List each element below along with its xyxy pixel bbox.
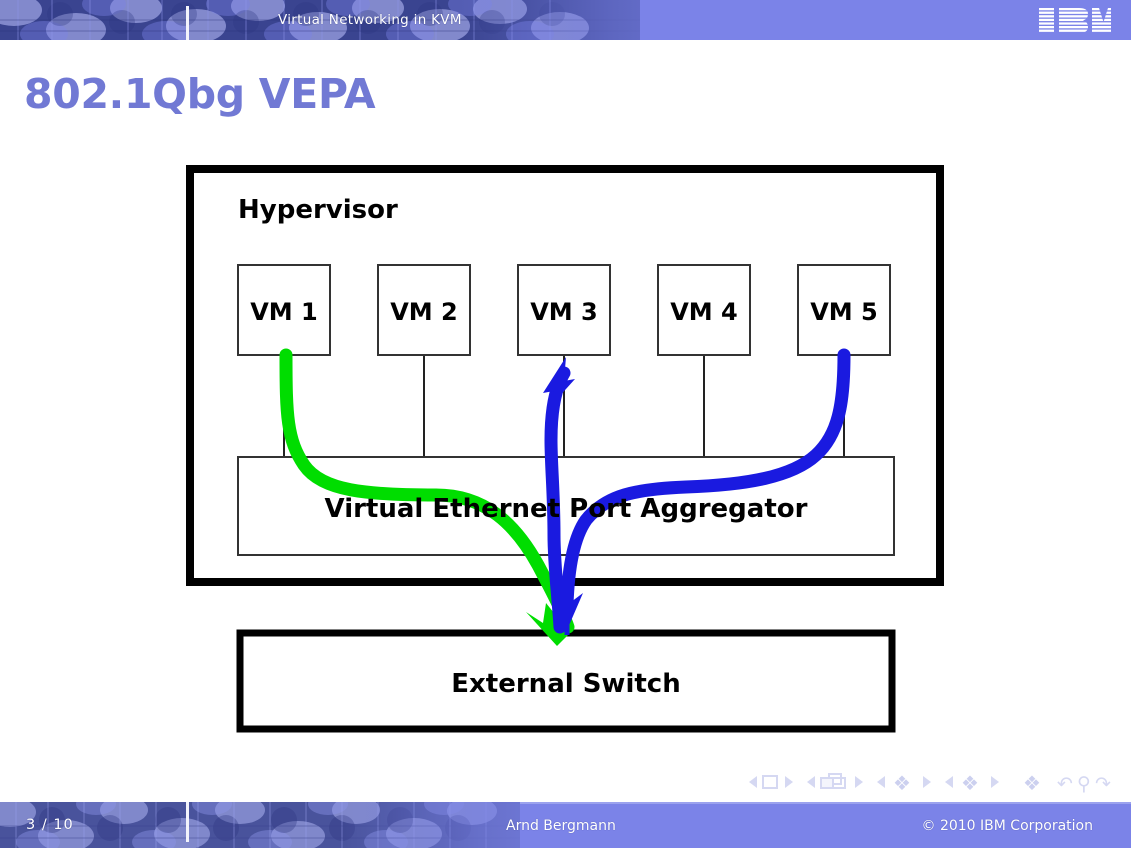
vm-label-1: VM 1 bbox=[250, 298, 318, 326]
hypervisor-label: Hypervisor bbox=[238, 195, 398, 225]
nav-forward-icon: ↷ bbox=[1095, 773, 1111, 794]
nav-section-current-icon: ❖ bbox=[961, 771, 979, 794]
nav-presentation-icon: ❖ bbox=[1023, 771, 1041, 794]
footer-divider bbox=[186, 802, 189, 842]
presentation-title: Virtual Networking in KVM bbox=[278, 12, 462, 28]
page-indicator: 3 / 10 bbox=[26, 817, 74, 833]
beamer-navigation-symbols[interactable]: ❖ ❖ ❖ ↶ ⚲ ↷ bbox=[745, 770, 1115, 794]
nav-subsection-prev-icon bbox=[877, 776, 885, 788]
vm-label-2: VM 2 bbox=[390, 298, 458, 326]
vm-label-5: VM 5 bbox=[810, 298, 878, 326]
header-bar: Virtual Networking in KVM bbox=[0, 0, 1131, 40]
copyright-notice: © 2010 IBM Corporation bbox=[922, 818, 1094, 834]
vepa-architecture-diagram: Hypervisor bbox=[186, 165, 946, 735]
nav-search-icon: ⚲ bbox=[1077, 773, 1091, 794]
ibm-logo bbox=[1039, 8, 1111, 33]
vm-label-4: VM 4 bbox=[670, 298, 738, 326]
nav-slide-prev-icon bbox=[749, 776, 757, 788]
footer-decorative-pattern bbox=[0, 802, 520, 848]
nav-frame-current-icon bbox=[821, 774, 845, 788]
slide: Virtual Networking in KVM bbox=[0, 0, 1131, 848]
nav-back-icon: ↶ bbox=[1057, 773, 1073, 794]
external-switch-label: External Switch bbox=[451, 669, 680, 699]
page-title: 802.1Qbg VEPA bbox=[24, 70, 375, 118]
nav-frame-prev-icon bbox=[807, 776, 815, 788]
vepa-label: Virtual Ethernet Port Aggregator bbox=[325, 494, 808, 524]
nav-section-next-icon bbox=[991, 776, 999, 788]
vm-label-3: VM 3 bbox=[530, 298, 598, 326]
nav-section-prev-icon bbox=[945, 776, 953, 788]
nav-frame-next-icon bbox=[855, 776, 863, 788]
nav-subsection-current-icon: ❖ bbox=[893, 771, 911, 794]
nav-subsection-next-icon bbox=[923, 776, 931, 788]
nav-slide-next-icon bbox=[785, 776, 793, 788]
author-name: Arnd Bergmann bbox=[506, 818, 616, 834]
header-divider bbox=[186, 6, 189, 40]
nav-slide-current-icon bbox=[763, 776, 777, 788]
header-pattern-fade bbox=[460, 0, 640, 40]
header-underline bbox=[0, 40, 1131, 45]
footer-pattern-fade bbox=[340, 802, 520, 848]
footer-bar: 3 / 10 Arnd Bergmann © 2010 IBM Corporat… bbox=[0, 802, 1131, 848]
